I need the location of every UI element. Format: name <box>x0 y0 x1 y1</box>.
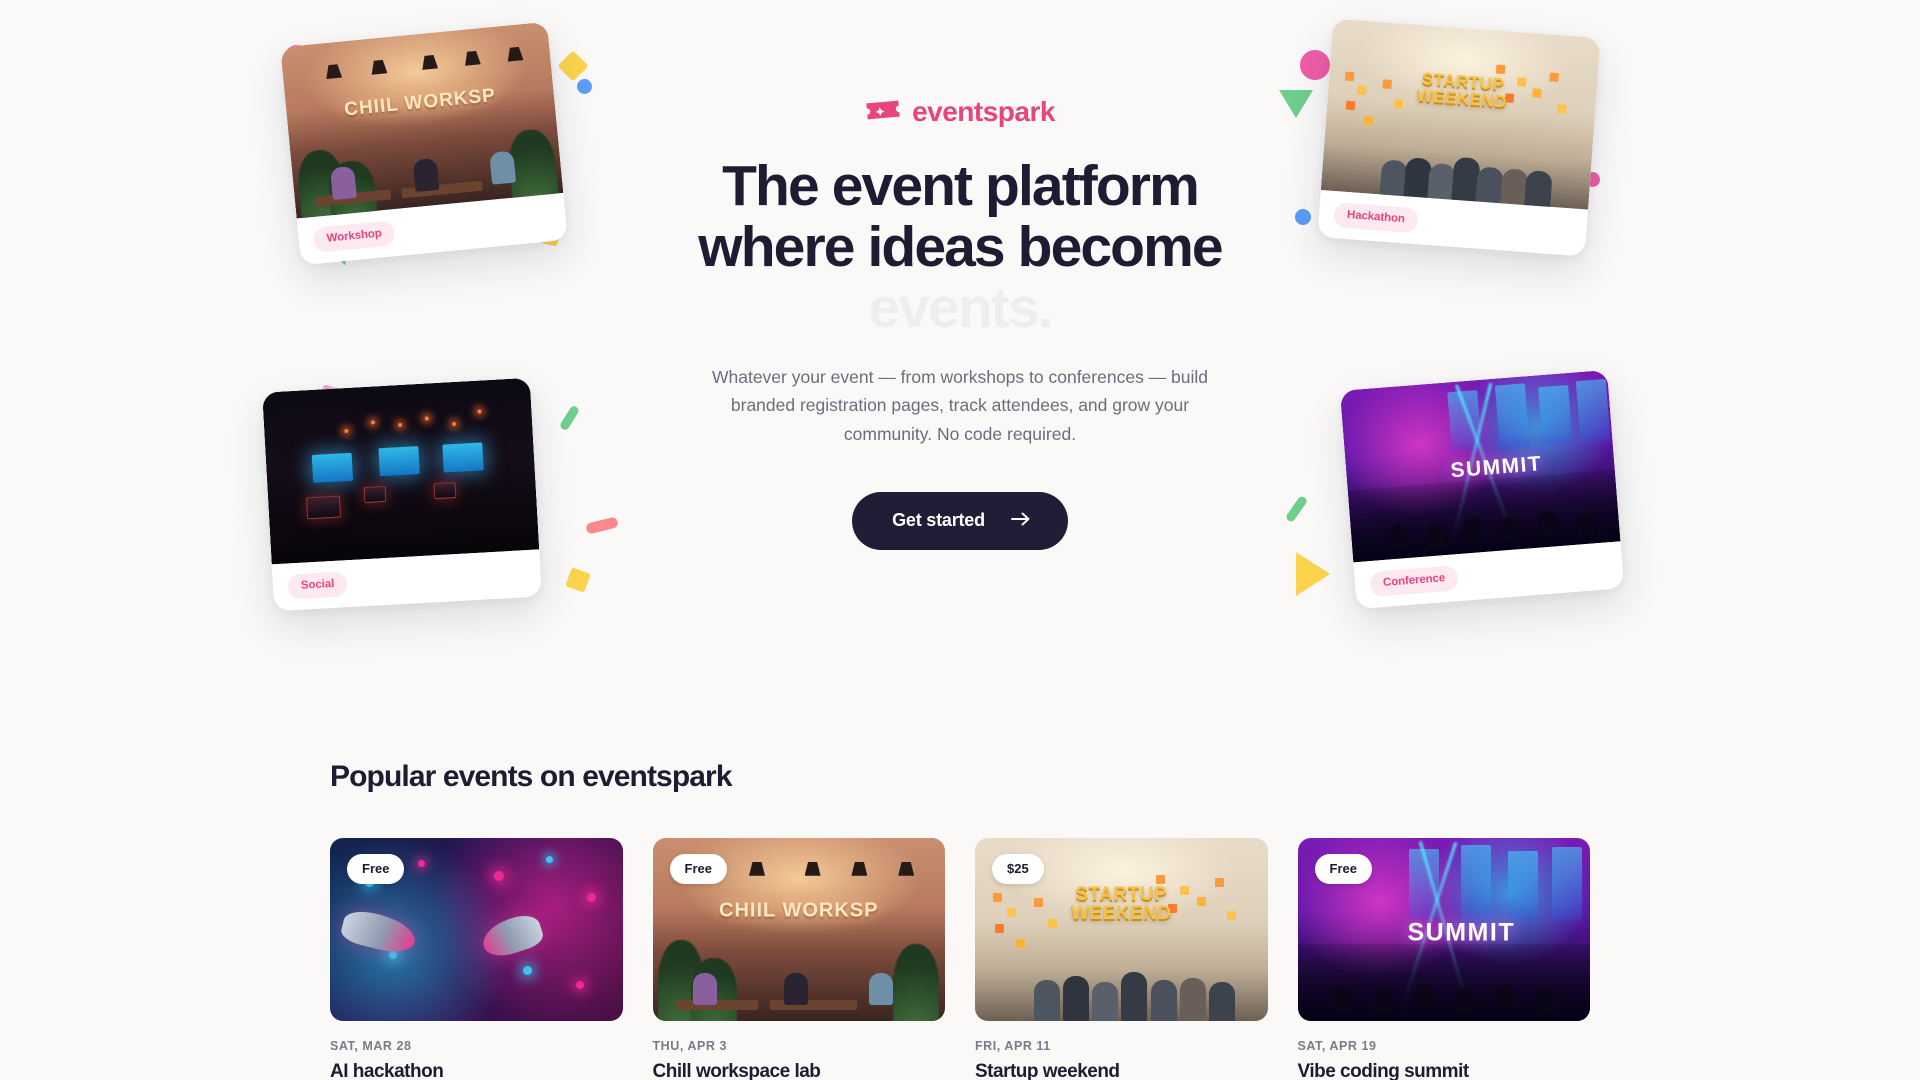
headline-line-2: where ideas become <box>610 217 1310 278</box>
event-title: Vibe coding summit <box>1298 1060 1591 1080</box>
conference-photo: SUMMIT <box>1340 370 1621 562</box>
ticket-icon <box>865 98 901 127</box>
get-started-label: Get started <box>892 510 985 531</box>
event-title: Startup weekend <box>975 1060 1268 1080</box>
brand-logo[interactable]: eventspark <box>610 96 1310 128</box>
floating-event-card-workshop[interactable]: CHIIL WORKSP Workshop <box>280 22 568 266</box>
category-chip: Workshop <box>313 220 396 253</box>
hero-subheadline: Whatever your event — from workshops to … <box>700 363 1220 448</box>
pink-circle-decoration <box>1300 50 1330 80</box>
workshop-image-text: CHIIL WORKSP <box>343 85 496 121</box>
price-badge: $25 <box>992 854 1044 884</box>
page-title: The event platform where ideas become ev… <box>610 156 1310 339</box>
card-thumbnail <box>262 378 539 565</box>
yellow-square-decoration <box>565 567 591 593</box>
floating-event-card-social[interactable]: Social <box>262 378 542 612</box>
summit-image-text: SUMMIT <box>1407 919 1515 948</box>
price-badge: Free <box>347 854 404 884</box>
event-card[interactable]: Free <box>330 838 623 1080</box>
cta-container: Get started <box>610 492 1310 550</box>
get-started-button[interactable]: Get started <box>852 492 1068 550</box>
hackathon-photo: STARTUP WEEKEND <box>1321 18 1601 209</box>
price-badge: Free <box>1315 854 1372 884</box>
yellow-diamond-decoration <box>557 50 588 81</box>
card-thumbnail: SUMMIT <box>1340 370 1621 562</box>
event-date: SAT, APR 19 <box>1298 1039 1591 1053</box>
event-thumbnail: $25 <box>975 838 1268 1021</box>
category-chip: Social <box>287 571 348 599</box>
event-date: FRI, APR 11 <box>975 1039 1268 1053</box>
event-card[interactable]: $25 <box>975 838 1268 1080</box>
events-grid: Free <box>330 838 1590 1080</box>
social-photo <box>262 378 539 565</box>
startup-weekend-image-text: STARTUP WEEKEND <box>1071 885 1172 923</box>
hackathon-image-text: STARTUP WEEKEND <box>1416 70 1509 111</box>
workshop-photo: CHIIL WORKSP <box>280 22 563 219</box>
event-date: SAT, MAR 28 <box>330 1039 623 1053</box>
event-card[interactable]: Free <box>1298 838 1591 1080</box>
event-thumbnail: Free <box>653 838 946 1021</box>
green-bar-decoration <box>559 405 580 432</box>
event-thumbnail: Free <box>1298 838 1591 1021</box>
hero-section: CHIIL WORKSP Workshop <box>0 0 1920 700</box>
category-chip: Hackathon <box>1333 202 1419 233</box>
price-badge: Free <box>670 854 727 884</box>
card-thumbnail: STARTUP WEEKEND <box>1321 18 1601 209</box>
card-thumbnail: CHIIL WORKSP <box>280 22 563 219</box>
section-title: Popular events on eventspark <box>330 760 1590 794</box>
workshop-image-text: CHIIL WORKSP <box>719 900 878 923</box>
category-chip: Conference <box>1369 565 1459 597</box>
popular-events-section: Popular events on eventspark Free <box>0 760 1920 1080</box>
event-date: THU, APR 3 <box>653 1039 946 1053</box>
event-title: AI hackathon <box>330 1060 623 1080</box>
blue-circle-decoration <box>577 79 592 94</box>
hero-content: eventspark The event platform where idea… <box>610 96 1310 550</box>
floating-event-card-conference[interactable]: SUMMIT Conference <box>1340 370 1624 609</box>
yellow-triangle-decoration <box>1296 552 1330 596</box>
brand-name: eventspark <box>912 96 1055 128</box>
headline-line-1: The event platform <box>610 156 1310 217</box>
event-title: Chill workspace lab <box>653 1060 946 1080</box>
landing-page: CHIIL WORKSP Workshop <box>0 0 1920 1080</box>
event-thumbnail: Free <box>330 838 623 1021</box>
headline-line-3: events. <box>610 278 1310 339</box>
floating-event-card-hackathon[interactable]: STARTUP WEEKEND Hackathon <box>1317 18 1600 256</box>
arrow-right-icon <box>1011 510 1030 531</box>
event-card[interactable]: Free <box>653 838 946 1080</box>
